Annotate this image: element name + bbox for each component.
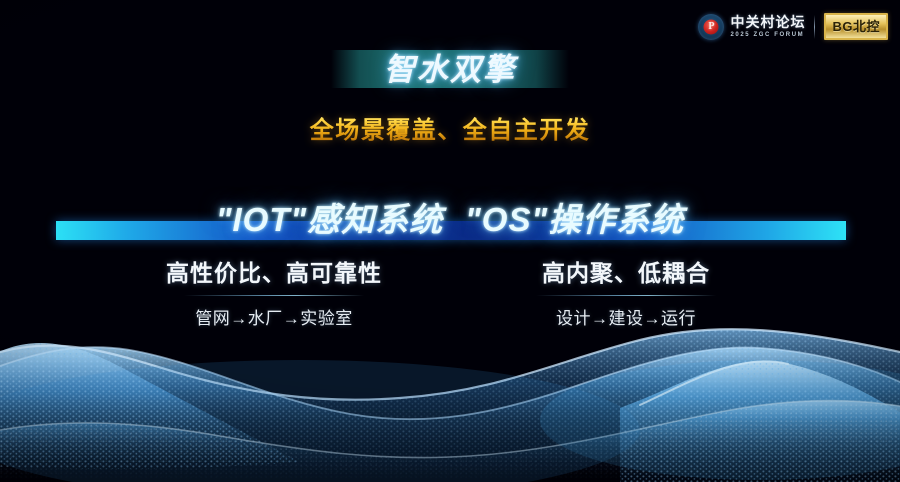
feature-divider-iot: [184, 295, 364, 296]
feature-flow-os: 设计→建设→运行: [483, 304, 769, 329]
logo-group: P 中关村论坛 2025 ZGC FORUM BG北控: [698, 13, 888, 40]
headline-iot: "IOT"感知系统: [216, 193, 443, 241]
slide-subtitle: 全场景覆盖、全自主开发: [0, 110, 900, 145]
slide-title-wrap: 智水双擎: [0, 50, 900, 88]
presentation-slide: P 中关村论坛 2025 ZGC FORUM BG北控 智水双擎 全场景覆盖、全…: [0, 0, 900, 482]
headline-os: "OS"操作系统: [465, 193, 684, 241]
zgc-logo-en: 2025 ZGC FORUM: [730, 32, 805, 38]
zgc-emblem-glyph: P: [708, 22, 714, 32]
slide-title: 智水双擎: [384, 44, 516, 89]
zgc-forum-logo: P 中关村论坛 2025 ZGC FORUM: [698, 14, 805, 40]
feature-column-iot: 高性价比、高可靠性 管网→水厂→实验室: [131, 254, 417, 329]
feature-heading-iot: 高性价比、高可靠性: [131, 254, 417, 288]
partner-logo-bg: BG北控: [824, 13, 888, 40]
feature-column-os: 高内聚、低耦合 设计→建设→运行: [483, 254, 769, 329]
feature-heading-os: 高内聚、低耦合: [483, 254, 769, 288]
title-band: 智水双擎: [331, 50, 569, 88]
feature-columns: 高性价比、高可靠性 管网→水厂→实验室 高内聚、低耦合 设计→建设→运行: [0, 254, 900, 329]
logo-divider: [814, 15, 815, 39]
feature-divider-os: [536, 295, 716, 296]
headline-row: "IOT"感知系统 "OS"操作系统: [0, 193, 900, 241]
partner-logo-label: BG北控: [832, 19, 880, 34]
feature-flow-iot: 管网→水厂→实验室: [131, 304, 417, 329]
zgc-emblem-icon: P: [698, 14, 724, 40]
zgc-logo-cn: 中关村论坛: [730, 15, 805, 29]
zgc-logo-text: 中关村论坛 2025 ZGC FORUM: [730, 15, 805, 38]
